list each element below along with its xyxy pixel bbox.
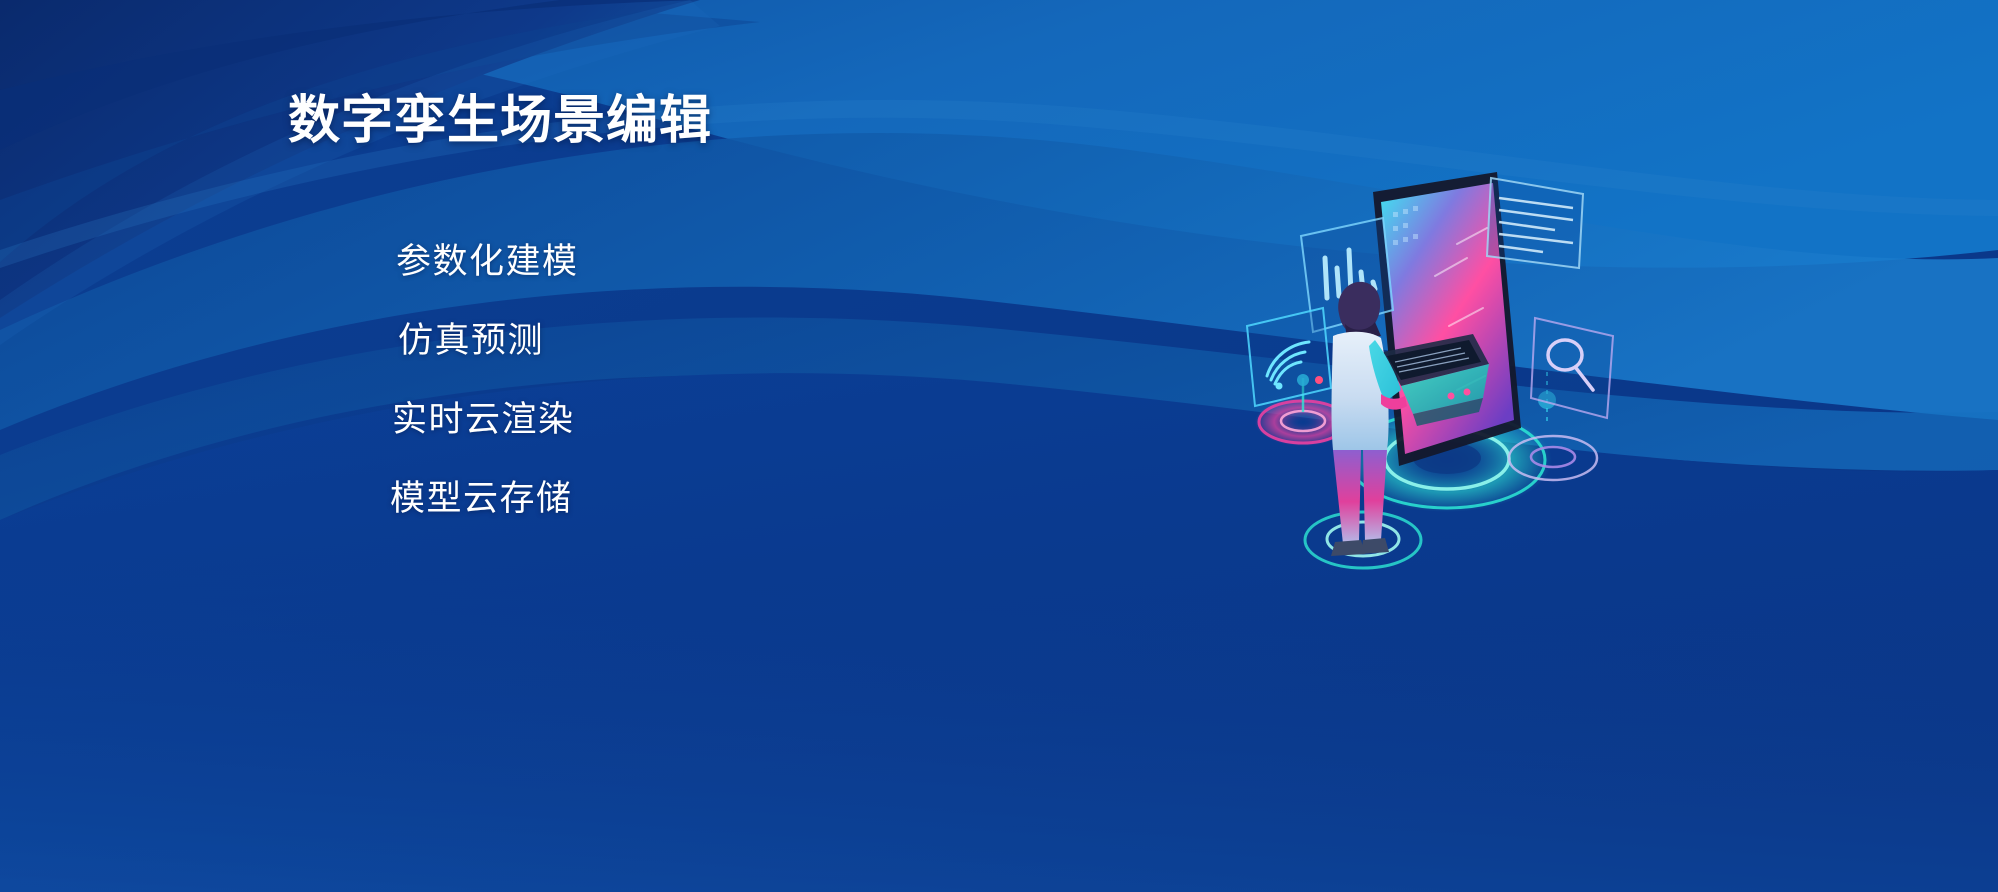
illustration-svg <box>1235 150 1635 580</box>
feature-label: 参数化建模 <box>396 244 579 279</box>
page-title: 数字孪生场景编辑 <box>288 94 712 150</box>
digital-twin-illustration <box>1235 150 1635 580</box>
feature-list: 参数化建模 仿真预测 实时云渲染 模型云存储 <box>372 222 579 538</box>
list-item-model-cloud-storage[interactable]: 模型云存储 <box>372 459 579 538</box>
list-item-parametric-modeling[interactable]: 参数化建模 <box>372 222 579 301</box>
feature-label: 仿真预测 <box>398 323 544 358</box>
list-item-realtime-cloud-rendering[interactable]: 实时云渲染 <box>372 380 579 459</box>
wifi-icon-panel <box>1247 308 1331 406</box>
feature-label: 实时云渲染 <box>392 402 575 437</box>
slide-canvas: 数字孪生场景编辑 参数化建模 仿真预测 实时云渲染 模型云存储 <box>0 0 1998 892</box>
document-lines-panel <box>1487 178 1583 268</box>
title-block: 数字孪生场景编辑 <box>288 94 712 150</box>
list-item-simulation-prediction[interactable]: 仿真预测 <box>372 301 579 380</box>
feature-label: 模型云存储 <box>390 481 573 516</box>
